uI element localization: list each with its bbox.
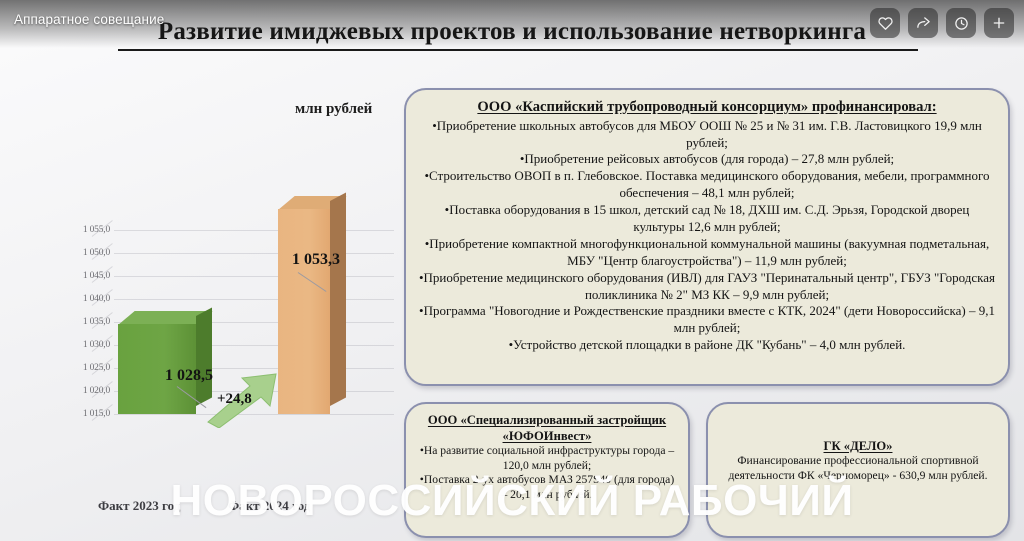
heart-icon: [878, 16, 893, 31]
delta-label: +24,8: [217, 391, 252, 408]
share-arrow-icon: [916, 16, 931, 31]
info-box-yufoinvest: ООО «Специализированный застройщик «ЮФОИ…: [404, 402, 690, 538]
info-box-line: •Строительство ОВОП в п. Глебовское. Пос…: [418, 168, 996, 202]
info-box-heading: ООО «Каспийский трубопроводный консорциу…: [418, 98, 996, 118]
bar-2024: [278, 209, 330, 414]
y-tick-label: 1 030,0: [48, 340, 110, 350]
info-box-ktk: ООО «Каспийский трубопроводный консорциу…: [404, 88, 1010, 386]
y-tick-label: 1 020,0: [48, 386, 110, 396]
info-box-line: •На развитие социальной инфраструктуры г…: [416, 444, 678, 473]
y-tick-label: 1 050,0: [48, 248, 110, 258]
info-box-line: •Поставка оборудования в 15 школ, детски…: [418, 202, 996, 236]
bar-chart: млн рублей 1 055,0 1 050,0 1 045,0: [10, 86, 400, 446]
info-box-line: •Программа "Новогодние и Рождественские …: [418, 303, 996, 337]
video-player-stage: Развитие имиджевых проектов и использова…: [0, 0, 1024, 541]
presentation-slide: Развитие имиджевых проектов и использова…: [0, 0, 1024, 541]
y-tick-label: 1 025,0: [48, 363, 110, 373]
info-box-line: Финансирование профессиональной спортивн…: [718, 454, 998, 483]
bar-value-2024: 1 053,3: [292, 251, 340, 269]
add-to-playlist-button[interactable]: [984, 8, 1014, 38]
y-tick-label: 1 055,0: [48, 225, 110, 235]
video-title: Аппаратное совещание: [14, 12, 164, 27]
info-box-delo: ГК «ДЕЛО» Финансирование профессионально…: [706, 402, 1010, 538]
info-box-heading: ООО «Специализированный застройщик «ЮФОИ…: [416, 412, 678, 444]
info-box-heading: ГК «ДЕЛО»: [718, 438, 998, 454]
player-actions: [870, 8, 1014, 38]
watch-later-button[interactable]: [946, 8, 976, 38]
y-tick-label: 1 045,0: [48, 271, 110, 281]
info-box-line: •Приобретение школьных автобусов для МБО…: [418, 118, 996, 152]
info-box-line: •Устройство детской площадки в районе ДК…: [418, 337, 996, 354]
clock-icon: [954, 16, 969, 31]
info-box-line: •Приобретение компактной многофункционал…: [418, 236, 996, 270]
info-box-line: •Приобретение рейсовых автобусов (для го…: [418, 151, 996, 168]
y-tick-label: 1 035,0: [48, 317, 110, 327]
x-tick-label-2023: Факт 2023 год: [98, 498, 180, 514]
info-box-line: •Поставка 2-ух автобусов МАЗ 257S40 (для…: [416, 473, 678, 502]
x-tick-label-2024: Факт 2024 год: [228, 498, 310, 514]
share-button[interactable]: [908, 8, 938, 38]
info-box-line: •Приобретение медицинского оборудования …: [418, 270, 996, 304]
y-tick-label: 1 040,0: [48, 294, 110, 304]
plus-icon: [991, 15, 1007, 31]
like-button[interactable]: [870, 8, 900, 38]
chart-unit-label: млн рублей: [295, 101, 372, 118]
y-tick-label: 1 015,0: [48, 409, 110, 419]
bar-front-face: [278, 209, 330, 414]
title-underline: [118, 49, 918, 51]
bar-side-face: [330, 192, 346, 406]
